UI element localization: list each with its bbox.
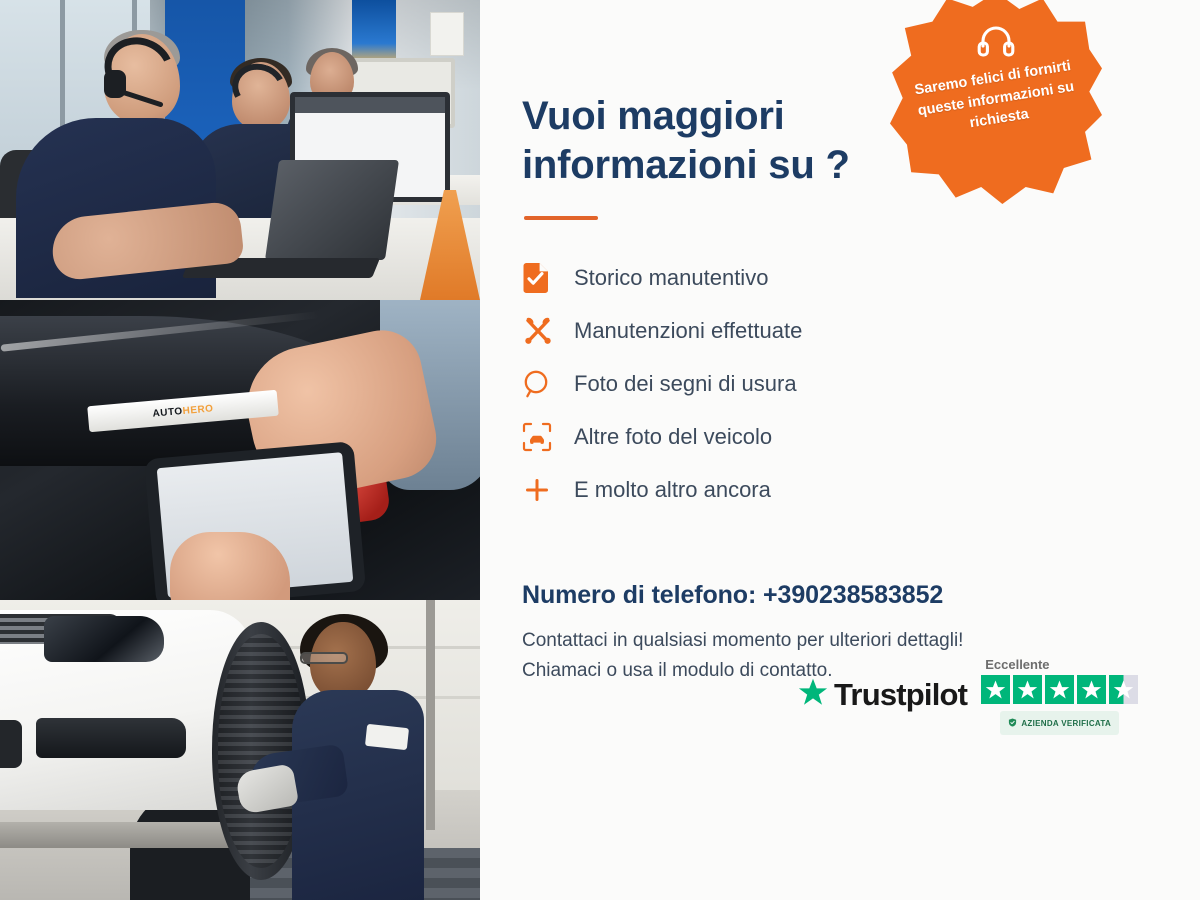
- photo-call-center: [0, 0, 480, 300]
- info-banner: AUTOHERO: [0, 0, 1200, 900]
- verified-company-label: AZIENDA VERIFICATA: [1021, 719, 1111, 728]
- trustpilot-rating-block: Eccellente: [981, 657, 1138, 735]
- feature-list: Storico manutentivo Manutenzi: [522, 252, 1200, 517]
- content-panel: Vuoi maggiori informazioni su ? Storico …: [480, 0, 1200, 900]
- photo-workshop-wheel: [0, 600, 480, 900]
- verified-company-badge: AZIENDA VERIFICATA: [1000, 711, 1119, 735]
- feature-item-altre-foto-veicolo: Altre foto del veicolo: [522, 411, 1200, 464]
- trustpilot-star-filled: [1077, 675, 1106, 704]
- feature-item-foto-segni-usura: Foto dei segni di usura: [522, 358, 1200, 411]
- phone-description-line-1: Contattaci in qualsiasi momento per ulte…: [522, 626, 1132, 657]
- feature-label: E molto altro ancora: [574, 479, 771, 501]
- ruler-brand-hero: HERO: [182, 403, 214, 417]
- trustpilot-logo: Trustpilot: [798, 677, 967, 713]
- request-info-badge: Saremo felici di fornirti queste informa…: [890, 0, 1102, 204]
- headset-icon: [890, 22, 1102, 60]
- trustpilot-star-filled: [1045, 675, 1074, 704]
- photo-column: AUTOHERO: [0, 0, 480, 900]
- trustpilot-name: Trustpilot: [834, 677, 967, 713]
- mechanic-glasses: [300, 652, 348, 664]
- wall-pipe-decor: [426, 600, 435, 830]
- paper-decor: [430, 12, 464, 56]
- feature-item-molto-altro: E molto altro ancora: [522, 464, 1200, 517]
- plus-icon: [522, 475, 574, 505]
- car-focus-frame-icon: [522, 422, 574, 452]
- photo-vehicle-inspection: AUTOHERO: [0, 300, 480, 600]
- trustpilot-star-icon: [798, 678, 828, 712]
- laptop-screen: [265, 160, 399, 260]
- trustpilot-rating-word: Eccellente: [985, 657, 1049, 672]
- feature-item-manutenzioni-effettuate: Manutenzioni effettuate: [522, 305, 1200, 358]
- page-title: Vuoi maggiori informazioni su ?: [522, 92, 942, 190]
- ruler-brand-auto: AUTO: [152, 406, 183, 420]
- magnifier-icon: [522, 369, 574, 399]
- trustpilot-star-half: [1109, 675, 1138, 704]
- feature-label: Foto dei segni di usura: [574, 373, 797, 395]
- car-lift-platform: [0, 822, 240, 848]
- trustpilot-star-filled: [981, 675, 1010, 704]
- feature-label: Altre foto del veicolo: [574, 426, 772, 448]
- poster-decor: [352, 0, 396, 62]
- phone-number-title: Numero di telefono: +390238583852: [522, 581, 1200, 610]
- car-headlight: [44, 616, 164, 662]
- bumper-vent: [36, 718, 186, 758]
- shield-check-icon: [1008, 714, 1017, 732]
- checklist-document-icon: [522, 263, 574, 293]
- trustpilot-star-filled: [1013, 675, 1042, 704]
- crossed-tools-icon: [522, 315, 574, 347]
- trustpilot-widget[interactable]: Trustpilot Eccellente: [798, 655, 1138, 735]
- bumper-vent-left: [0, 720, 22, 768]
- trustpilot-stars: [981, 675, 1138, 704]
- title-divider: [524, 216, 598, 220]
- feature-label: Manutenzioni effettuate: [574, 320, 802, 342]
- feature-item-storico-manutentivo: Storico manutentivo: [522, 252, 1200, 305]
- mechanic-uniform-badge: [365, 724, 409, 750]
- feature-label: Storico manutentivo: [574, 267, 768, 289]
